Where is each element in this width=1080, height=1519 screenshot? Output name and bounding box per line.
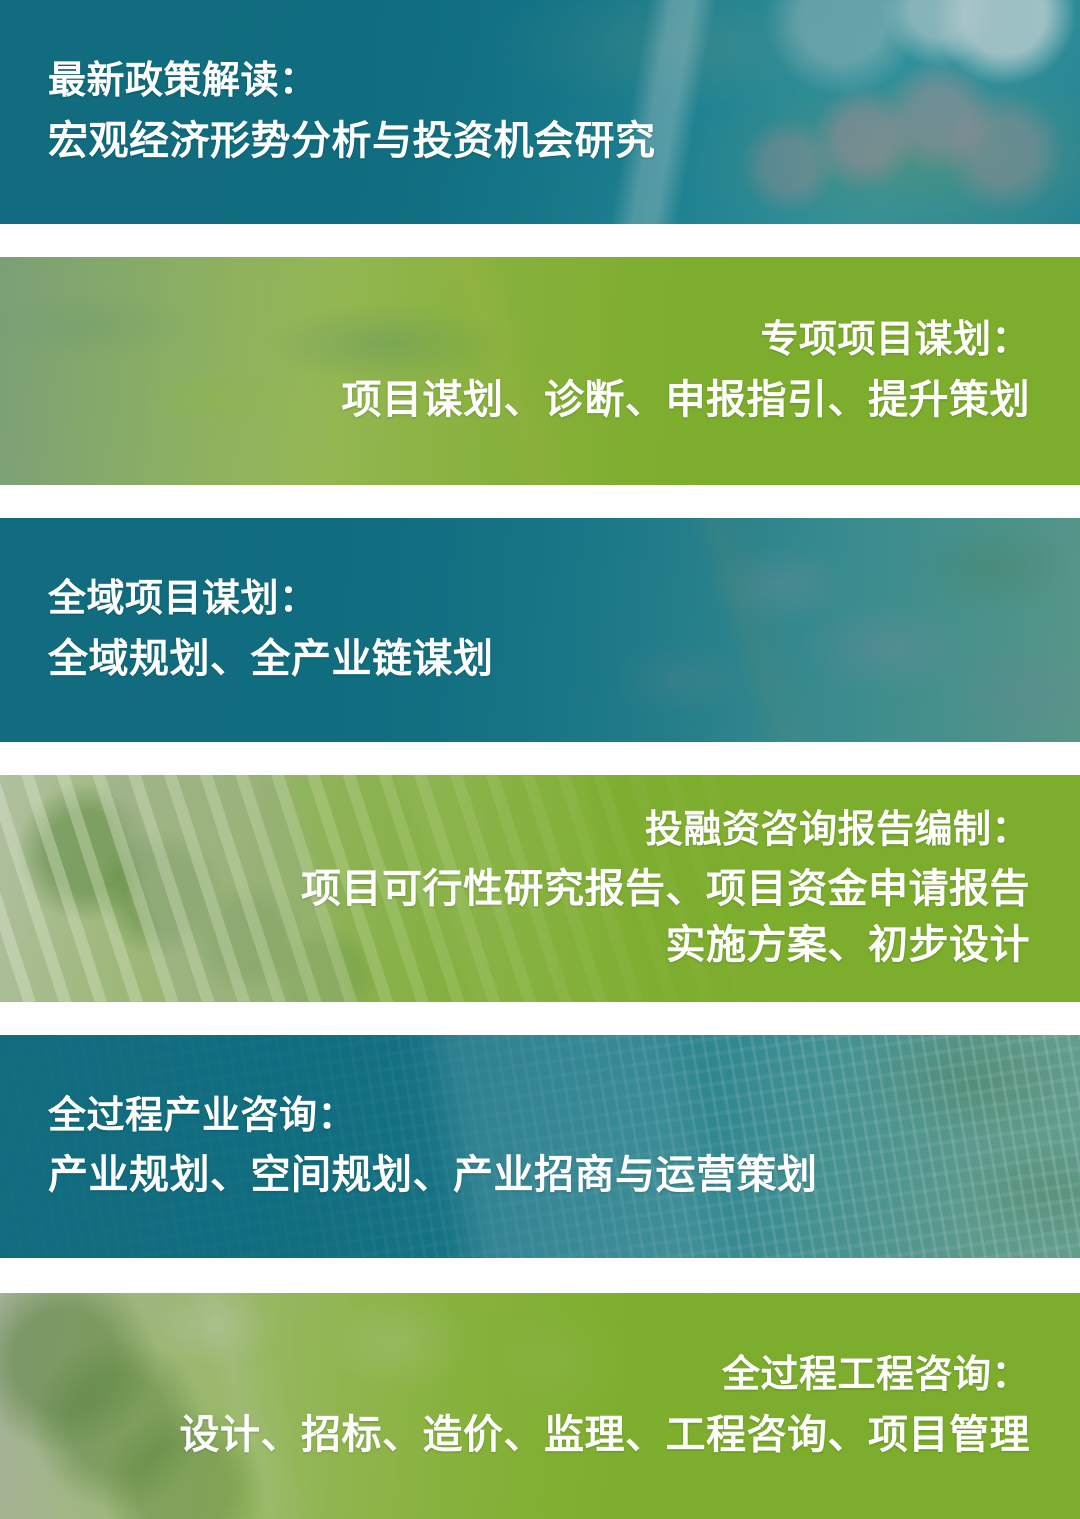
band-title: 投融资咨询报告编制： xyxy=(645,806,1030,855)
band-content: 最新政策解读： 宏观经济形势分析与投资机会研究 xyxy=(0,0,1080,224)
service-band-investment-financing-report[interactable]: 投融资咨询报告编制： 项目可行性研究报告、项目资金申请报告 实施方案、初步设计 xyxy=(0,775,1080,1002)
band-line: 产业规划、空间规划、产业招商与运营策划 xyxy=(48,1149,818,1201)
band-title: 专项项目谋划： xyxy=(760,316,1030,365)
band-content: 全域项目谋划： 全域规划、全产业链谋划 xyxy=(0,518,1080,742)
band-line: 全域规划、全产业链谋划 xyxy=(48,633,494,685)
band-title: 全过程产业咨询： xyxy=(48,1092,356,1141)
band-content: 专项项目谋划： 项目谋划、诊断、申报指引、提升策划 xyxy=(0,257,1080,485)
service-band-full-process-industry-consulting[interactable]: 全过程产业咨询： 产业规划、空间规划、产业招商与运营策划 xyxy=(0,1035,1080,1258)
band-title: 全过程工程咨询： xyxy=(722,1351,1030,1400)
band-line: 实施方案、初步设计 xyxy=(666,919,1031,971)
band-line: 宏观经济形势分析与投资机会研究 xyxy=(48,115,656,167)
band-line: 项目可行性研究报告、项目资金申请报告 xyxy=(301,863,1030,915)
band-title: 最新政策解读： xyxy=(48,57,318,106)
band-content: 全过程工程咨询： 设计、招标、造价、监理、工程咨询、项目管理 xyxy=(0,1293,1080,1519)
service-band-policy-interpretation[interactable]: 最新政策解读： 宏观经济形势分析与投资机会研究 xyxy=(0,0,1080,224)
service-band-regional-project-planning[interactable]: 全域项目谋划： 全域规划、全产业链谋划 xyxy=(0,518,1080,742)
service-band-special-project-planning[interactable]: 专项项目谋划： 项目谋划、诊断、申报指引、提升策划 xyxy=(0,257,1080,485)
band-content: 投融资咨询报告编制： 项目可行性研究报告、项目资金申请报告 实施方案、初步设计 xyxy=(0,775,1080,1002)
band-line: 项目谋划、诊断、申报指引、提升策划 xyxy=(342,374,1031,426)
service-band-full-process-engineering-consulting[interactable]: 全过程工程咨询： 设计、招标、造价、监理、工程咨询、项目管理 xyxy=(0,1293,1080,1519)
band-content: 全过程产业咨询： 产业规划、空间规划、产业招商与运营策划 xyxy=(0,1035,1080,1258)
band-line: 设计、招标、造价、监理、工程咨询、项目管理 xyxy=(180,1409,1031,1461)
band-title: 全域项目谋划： xyxy=(48,575,318,624)
service-banner-poster: 最新政策解读： 宏观经济形势分析与投资机会研究 专项项目谋划： 项目谋划、诊断、… xyxy=(0,0,1080,1519)
